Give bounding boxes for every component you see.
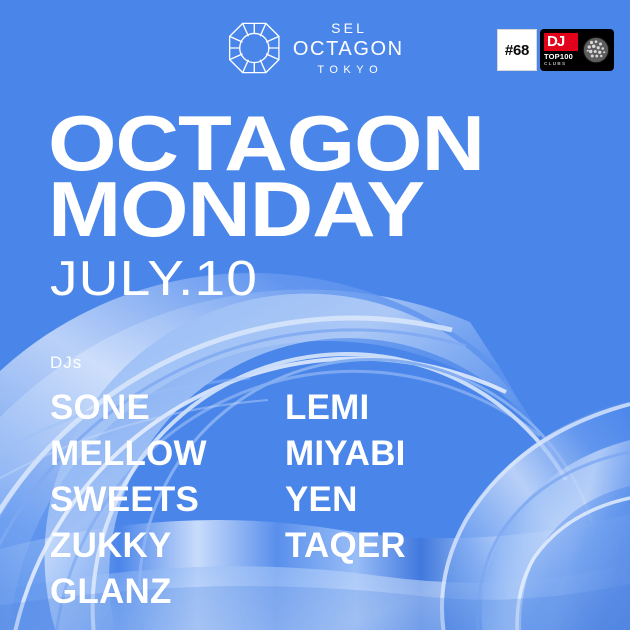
dj-name: TAQER — [285, 523, 406, 569]
venue-logo-wordmark: SEL OCTAGON TOKYO — [291, 19, 403, 76]
dj-lineup-column-left: SONE MELLOW SWEETS ZUKKY GLANZ — [50, 385, 285, 615]
event-title: OCTAGON MONDAY — [48, 108, 488, 252]
dj-name: ZUKKY — [50, 523, 285, 569]
svg-text:JULY.10: JULY.10 — [50, 254, 258, 306]
logo-text-tokyo: TOKYO — [312, 65, 383, 76]
dj-name: SWEETS — [50, 477, 285, 523]
dj-name: GLANZ — [50, 569, 285, 615]
globe-icon — [581, 35, 611, 65]
dj-lineup-column-right: LEMI MIYABI YEN TAQER — [285, 385, 406, 615]
event-title-line2: MONDAY — [48, 174, 488, 252]
logo-text-octagon: OCTAGON — [291, 39, 403, 59]
djs-label: DJs — [50, 353, 82, 373]
djmag-badge-text: DJ TOP100 CLUBS — [544, 33, 578, 67]
dj-name: SONE — [50, 385, 285, 431]
dj-name: LEMI — [285, 385, 406, 431]
dj-name: YEN — [285, 477, 406, 523]
dj-mag-award-badge: #68 DJ TOP100 CLUBS — [497, 29, 614, 71]
event-flyer: SEL OCTAGON TOKYO #68 DJ TOP100 CLUBS — [0, 0, 630, 630]
venue-logo: SEL OCTAGON TOKYO — [226, 19, 403, 76]
logo-text-sel: SEL — [328, 21, 367, 35]
dj-lineup: SONE MELLOW SWEETS ZUKKY GLANZ LEMI MIYA… — [50, 385, 406, 615]
rank-box: #68 — [497, 29, 537, 71]
djmag-top100-badge: DJ TOP100 CLUBS — [540, 29, 614, 71]
award-clubs-text: CLUBS — [544, 62, 578, 67]
rank-number: #68 — [505, 42, 529, 59]
award-top100-text: TOP100 — [544, 53, 578, 61]
event-date-svg: JULY.10 — [50, 254, 280, 306]
dj-name: MIYABI — [285, 431, 406, 477]
octagon-ring-logo-icon — [226, 20, 282, 76]
dj-name: MELLOW — [50, 431, 285, 477]
djmag-logo-text: DJ — [544, 33, 578, 51]
event-date: JULY.10 — [50, 254, 280, 311]
flyer-header: SEL OCTAGON TOKYO #68 DJ TOP100 CLUBS — [0, 0, 630, 96]
svg-text:MONDAY: MONDAY — [48, 174, 424, 252]
